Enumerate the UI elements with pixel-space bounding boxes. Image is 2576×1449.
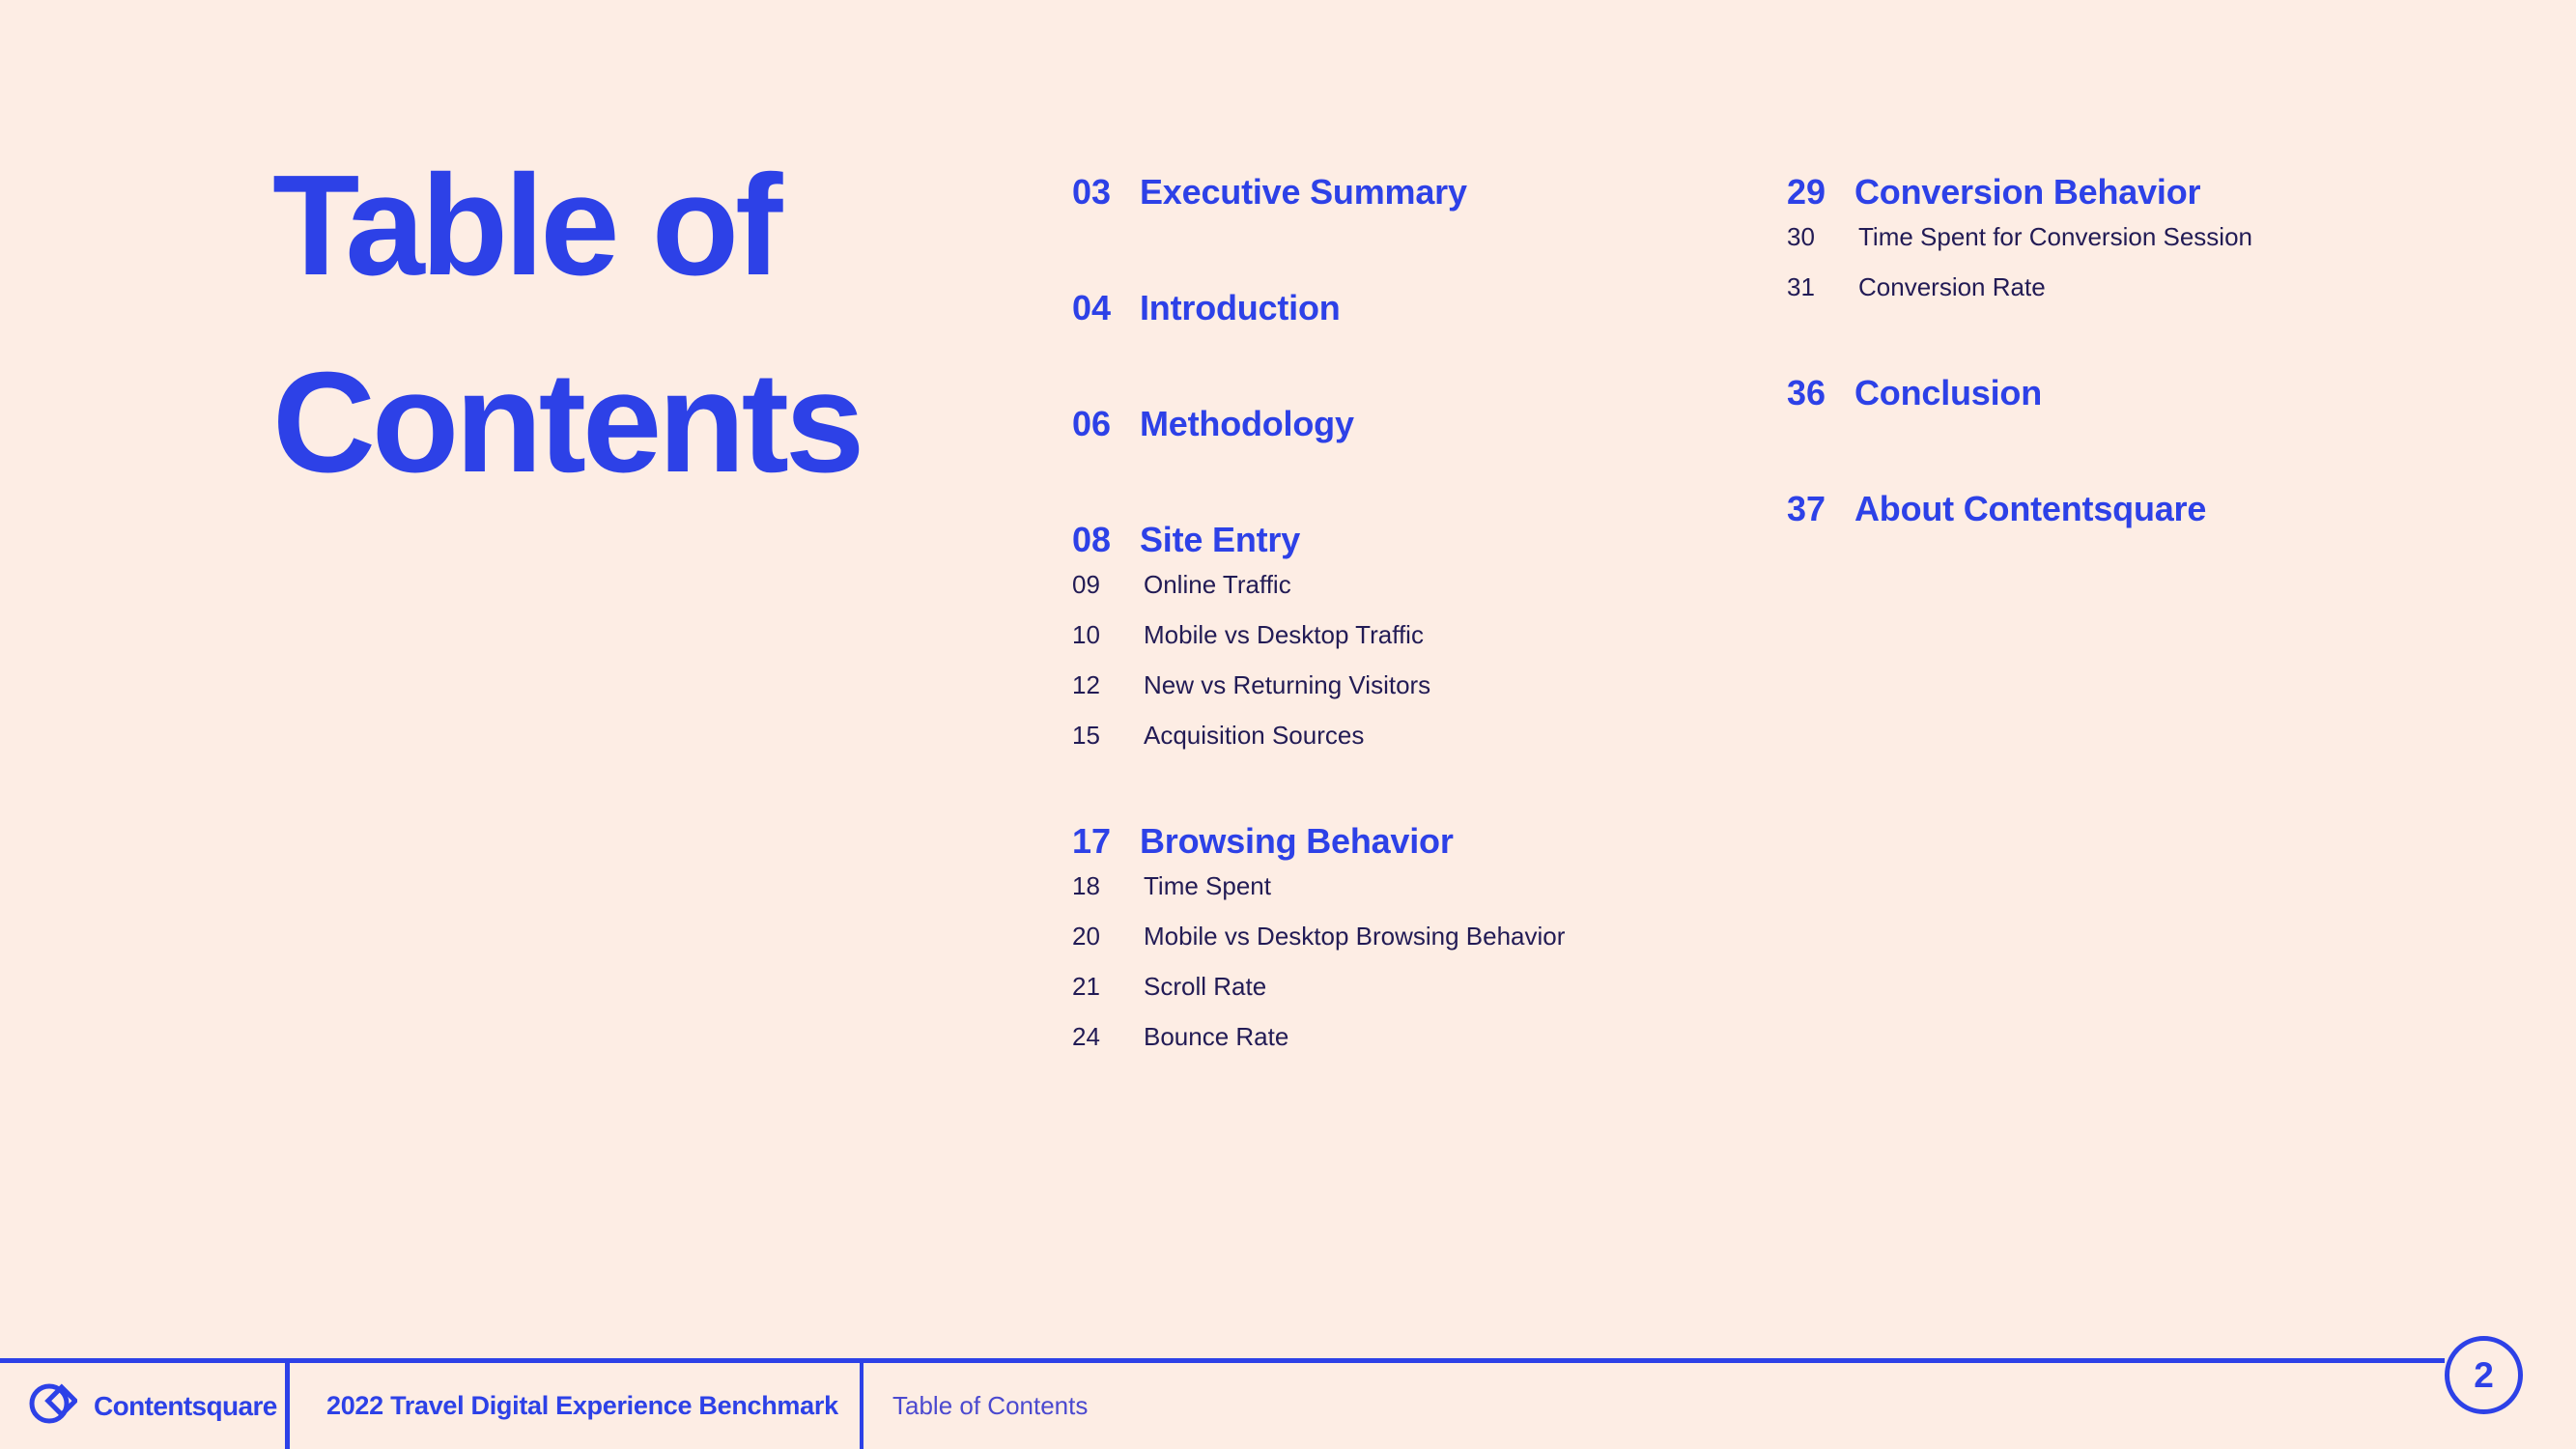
toc-subitem-list: 18 Time Spent 20 Mobile vs Desktop Brows…: [1072, 871, 1787, 1072]
toc-entry-label: Executive Summary: [1140, 172, 1467, 213]
toc-group: 08 Site Entry 09 Online Traffic 10 Mobil…: [1072, 520, 1787, 771]
toc-entry-label: Site Entry: [1140, 520, 1300, 560]
toc-subentry-mobile-vs-desktop-browsing-behavior[interactable]: 20 Mobile vs Desktop Browsing Behavior: [1072, 922, 1787, 972]
toc-entry-executive-summary[interactable]: 03 Executive Summary: [1072, 172, 1787, 261]
toc-subitem-list: 30 Time Spent for Conversion Session 31 …: [1787, 222, 2482, 323]
toc-page-number: 36: [1787, 373, 1854, 413]
toc-entry-methodology[interactable]: 06 Methodology: [1072, 404, 1787, 493]
spacer: [1787, 462, 2482, 489]
toc-page-number: 17: [1072, 821, 1140, 862]
toc-subentry-label: New vs Returning Visitors: [1144, 670, 1430, 700]
brand-wordmark: Contentsquare: [94, 1391, 277, 1422]
toc-entry-label: Introduction: [1140, 288, 1341, 328]
toc-page-number: 10: [1072, 620, 1144, 650]
spacer: [1072, 261, 1787, 288]
slide-table-of-contents: Table of Contents 03 Executive Summary 0…: [0, 0, 2576, 1449]
report-title-text: 2022 Travel Digital Experience Benchmark: [326, 1391, 838, 1421]
toc-entry-about-contentsquare[interactable]: 37 About Contentsquare: [1787, 489, 2482, 578]
toc-subentry-online-traffic[interactable]: 09 Online Traffic: [1072, 570, 1787, 620]
toc-page-number: 06: [1072, 404, 1140, 444]
toc-entry-label: Browsing Behavior: [1140, 821, 1454, 862]
toc-group: 29 Conversion Behavior 30 Time Spent for…: [1787, 172, 2482, 323]
toc-subentry-time-spent-for-conversion-session[interactable]: 30 Time Spent for Conversion Session: [1787, 222, 2482, 272]
section-label-text: Table of Contents: [892, 1391, 1088, 1421]
toc-page-number: 04: [1072, 288, 1140, 328]
toc-entry-site-entry[interactable]: 08 Site Entry: [1072, 520, 1787, 574]
toc-page-number: 24: [1072, 1022, 1144, 1052]
spacer: [1072, 377, 1787, 404]
toc-subentry-acquisition-sources[interactable]: 15 Acquisition Sources: [1072, 721, 1787, 771]
toc-group: 36 Conclusion: [1787, 373, 2482, 462]
page-number-badge: 2: [2445, 1336, 2523, 1414]
spacer: [1787, 323, 2482, 373]
page-title-line-2: Contents: [272, 352, 1045, 495]
toc-page-number: 03: [1072, 172, 1140, 213]
toc-entry-label: About Contentsquare: [1854, 489, 2206, 529]
toc-subentry-label: Conversion Rate: [1858, 272, 2046, 302]
toc-page-number: 31: [1787, 272, 1858, 302]
page-title: Table of Contents: [272, 155, 1045, 495]
toc-subentry-label: Time Spent: [1144, 871, 1271, 901]
toc-subentry-label: Scroll Rate: [1144, 972, 1266, 1002]
toc-group: 17 Browsing Behavior 18 Time Spent 20 Mo…: [1072, 821, 1787, 1072]
toc-page-number: 09: [1072, 570, 1144, 600]
toc-entry-label: Conversion Behavior: [1854, 172, 2200, 213]
toc-entry-label: Methodology: [1140, 404, 1354, 444]
footer-section-label: Table of Contents: [860, 1363, 1088, 1449]
toc-subentry-label: Mobile vs Desktop Traffic: [1144, 620, 1424, 650]
footer-brand[interactable]: Contentsquare: [0, 1363, 285, 1449]
toc-page-number: 20: [1072, 922, 1144, 952]
toc-page-number: 30: [1787, 222, 1858, 252]
toc-column-right: 29 Conversion Behavior 30 Time Spent for…: [1787, 172, 2482, 578]
toc-entry-label: Conclusion: [1854, 373, 2042, 413]
toc-subentry-label: Bounce Rate: [1144, 1022, 1288, 1052]
toc-subentry-time-spent[interactable]: 18 Time Spent: [1072, 871, 1787, 922]
contentsquare-logo-icon: [27, 1378, 77, 1434]
toc-subentry-label: Acquisition Sources: [1144, 721, 1364, 751]
toc-page-number: 15: [1072, 721, 1144, 751]
toc-entry-conclusion[interactable]: 36 Conclusion: [1787, 373, 2482, 462]
footer: Contentsquare 2022 Travel Digital Experi…: [0, 1363, 2576, 1449]
toc-page-number: 18: [1072, 871, 1144, 901]
toc-page-number: 08: [1072, 520, 1140, 560]
page-title-line-1: Table of: [272, 155, 1045, 298]
table-of-contents: 03 Executive Summary 04 Introduction 06 …: [1072, 172, 2482, 1072]
toc-subentry-conversion-rate[interactable]: 31 Conversion Rate: [1787, 272, 2482, 323]
toc-subentry-label: Online Traffic: [1144, 570, 1291, 600]
toc-group: 06 Methodology: [1072, 404, 1787, 493]
toc-group: 03 Executive Summary: [1072, 172, 1787, 261]
toc-entry-conversion-behavior[interactable]: 29 Conversion Behavior: [1787, 172, 2482, 226]
toc-entry-browsing-behavior[interactable]: 17 Browsing Behavior: [1072, 821, 1787, 875]
toc-page-number: 21: [1072, 972, 1144, 1002]
footer-report-title: 2022 Travel Digital Experience Benchmark: [285, 1363, 860, 1449]
toc-column-left: 03 Executive Summary 04 Introduction 06 …: [1072, 172, 1787, 1072]
toc-subentry-mobile-vs-desktop-traffic[interactable]: 10 Mobile vs Desktop Traffic: [1072, 620, 1787, 670]
toc-group: 37 About Contentsquare: [1787, 489, 2482, 578]
toc-subentry-bounce-rate[interactable]: 24 Bounce Rate: [1072, 1022, 1787, 1072]
toc-subentry-label: Mobile vs Desktop Browsing Behavior: [1144, 922, 1565, 952]
toc-page-number: 37: [1787, 489, 1854, 529]
toc-subentry-new-vs-returning-visitors[interactable]: 12 New vs Returning Visitors: [1072, 670, 1787, 721]
toc-page-number: 12: [1072, 670, 1144, 700]
toc-subentry-label: Time Spent for Conversion Session: [1858, 222, 2252, 252]
spacer: [1072, 771, 1787, 821]
page-number-text: 2: [2474, 1357, 2494, 1393]
spacer: [1072, 493, 1787, 520]
toc-page-number: 29: [1787, 172, 1854, 213]
toc-subentry-scroll-rate[interactable]: 21 Scroll Rate: [1072, 972, 1787, 1022]
toc-group: 04 Introduction: [1072, 288, 1787, 377]
toc-entry-introduction[interactable]: 04 Introduction: [1072, 288, 1787, 377]
toc-subitem-list: 09 Online Traffic 10 Mobile vs Desktop T…: [1072, 570, 1787, 771]
